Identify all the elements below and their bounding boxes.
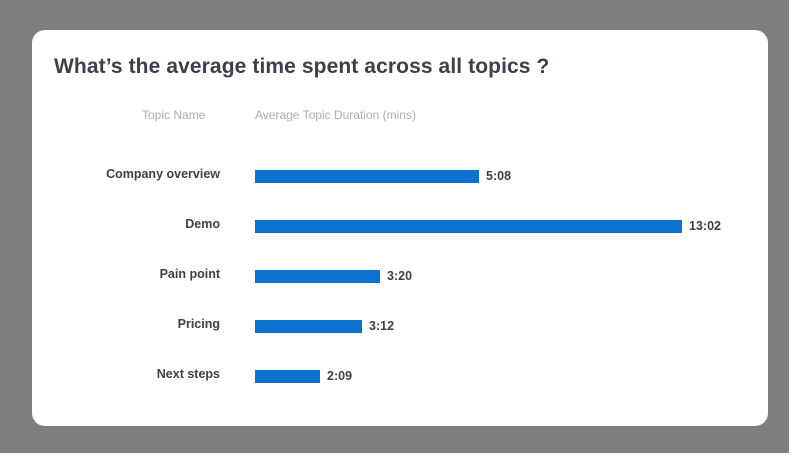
bar-value-label: 13:02 — [689, 219, 721, 233]
chart-row: Demo 13:02 — [32, 216, 768, 236]
column-header-topic-name: Topic Name — [142, 108, 205, 122]
bar-value-label: 3:12 — [369, 319, 394, 333]
bar-container: 2:09 — [255, 366, 352, 386]
bar-category-label: Next steps — [32, 367, 220, 381]
bar-category-label: Pricing — [32, 317, 220, 331]
bar — [255, 320, 362, 333]
bar — [255, 370, 320, 383]
bar-category-label: Demo — [32, 217, 220, 231]
bar-container: 13:02 — [255, 216, 721, 236]
chart-row: Next steps 2:09 — [32, 366, 768, 386]
horizontal-bar-chart: Topic Name Average Topic Duration (mins)… — [32, 108, 768, 408]
bar-container: 3:12 — [255, 316, 394, 336]
bar — [255, 220, 682, 233]
column-header-average-duration: Average Topic Duration (mins) — [255, 108, 416, 122]
chart-card: What’s the average time spent across all… — [32, 30, 768, 426]
chart-row: Company overview 5:08 — [32, 166, 768, 186]
chart-row: Pain point 3:20 — [32, 266, 768, 286]
bar-value-label: 2:09 — [327, 369, 352, 383]
screenshot-root: What’s the average time spent across all… — [0, 0, 800, 462]
page-title: What’s the average time spent across all… — [54, 55, 549, 79]
bar-category-label: Pain point — [32, 267, 220, 281]
bar-container: 3:20 — [255, 266, 412, 286]
chart-row: Pricing 3:12 — [32, 316, 768, 336]
bar-container: 5:08 — [255, 166, 511, 186]
bar — [255, 270, 380, 283]
bar-value-label: 5:08 — [486, 169, 511, 183]
bar-category-label: Company overview — [32, 167, 220, 181]
bar-value-label: 3:20 — [387, 269, 412, 283]
bar — [255, 170, 479, 183]
